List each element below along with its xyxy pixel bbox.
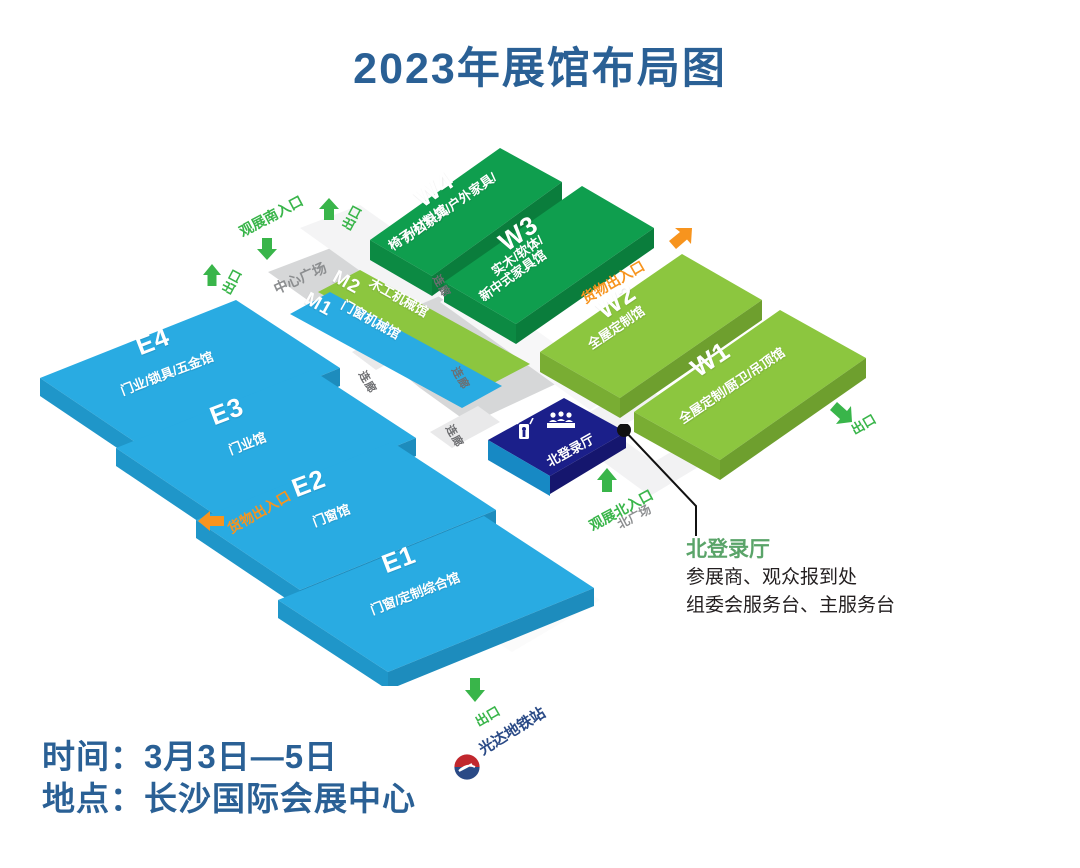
arrow-down-icon [462, 676, 488, 704]
hall-E1-shape [278, 516, 598, 686]
arrow-up-icon [316, 196, 342, 222]
hall-E1[interactable]: E1 门窗/定制综合馆 [278, 516, 598, 686]
callout-leader-line [612, 424, 722, 544]
callout-line-1: 参展商、观众报到处 [686, 564, 986, 592]
footer-info: 时间：3月3日—5日 地点：长沙国际会展中心 [42, 736, 416, 820]
exhibition-map: 2023年展馆布局图 E4 门业/锁具/五金馆 [0, 0, 1080, 868]
hall-M1[interactable]: M1 门窗机械馆 [290, 282, 510, 412]
footer-time: 时间：3月3日—5日 [42, 736, 416, 778]
arrow-up-right-icon [664, 226, 694, 254]
hall-M1-shape [290, 282, 510, 412]
metro-station-group[interactable]: 光达地铁站 [452, 734, 652, 794]
footer-place: 地点：长沙国际会展中心 [42, 778, 416, 820]
callout-block: 北登录厅 参展商、观众报到处 组委会服务台、主服务台 [686, 536, 986, 620]
information-person-icon [514, 418, 534, 442]
arrow-down-icon [254, 236, 280, 262]
callout-line-2: 组委会服务台、主服务台 [686, 592, 986, 620]
metro-logo-icon [452, 752, 482, 782]
arrow-left-icon [196, 508, 226, 534]
callout-title: 北登录厅 [686, 536, 986, 564]
reception-desk-icon [546, 410, 576, 432]
